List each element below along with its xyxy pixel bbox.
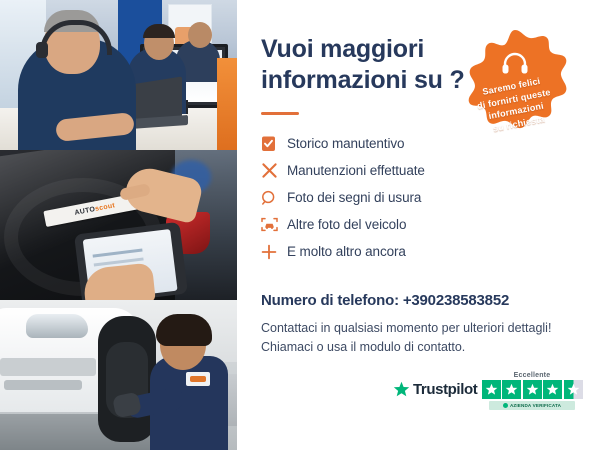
magnifier-icon — [261, 190, 287, 206]
car-grille-upper — [0, 358, 96, 376]
list-item: Altre foto del veicolo — [261, 211, 541, 238]
plus-icon — [261, 244, 287, 260]
verified-check-icon — [503, 403, 508, 408]
car-headlight — [26, 314, 88, 338]
uniform-logo-patch — [186, 372, 210, 386]
list-item-label: Storico manutentivo — [287, 136, 404, 151]
trustpilot-star-icon — [393, 381, 410, 398]
star-filled — [523, 380, 542, 399]
car-frame-icon — [261, 217, 287, 232]
trustpilot-logo: Trustpilot — [393, 381, 477, 398]
feature-list: Storico manutentivo Manutenzioni effettu… — [261, 130, 541, 265]
contact-line-2: Chiamaci o usa il modulo di contatto. — [261, 338, 561, 357]
star-filled — [543, 380, 562, 399]
star-filled — [502, 380, 521, 399]
photo-wheel-inspection — [0, 300, 237, 450]
star-filled — [482, 380, 501, 399]
photo-column: AUTOscout — [0, 0, 237, 450]
list-item-label: Manutenzioni effettuate — [287, 163, 425, 178]
list-item: Manutenzioni effettuate — [261, 157, 541, 184]
list-item: Storico manutentivo — [261, 130, 541, 157]
tools-cross-icon — [261, 162, 287, 179]
trustpilot-rating[interactable]: Trustpilot Eccellente — [393, 372, 585, 412]
list-item-label: Altre foto del veicolo — [287, 217, 406, 232]
orange-equipment-edge — [217, 58, 237, 150]
title-underline — [261, 112, 299, 115]
photo-call-center — [0, 0, 237, 150]
list-item: Foto dei segni di usura — [261, 184, 541, 211]
agent-headset-earpiece — [36, 42, 48, 58]
background-head-3 — [188, 22, 212, 48]
rating-label: Eccellente — [479, 372, 585, 379]
star-partial — [564, 380, 583, 399]
list-item-label: E molto altro ancora — [287, 244, 406, 259]
headset-icon — [501, 52, 529, 76]
list-item-label: Foto dei segni di usura — [287, 190, 421, 205]
phone-number[interactable]: Numero di telefono: +390238583852 — [261, 292, 509, 309]
car-front-tire — [98, 316, 156, 442]
advertisement-banner: AUTOscout Vuoi maggiori infor — [0, 0, 600, 450]
verified-business-badge: AZIENDA VERIFICATA — [489, 401, 575, 410]
content-panel: Vuoi maggiori informazioni su ? Saremo f… — [237, 0, 600, 450]
car-grille-lower — [4, 380, 82, 390]
trustpilot-score-block: Eccellente — [479, 372, 585, 410]
contact-text: Contattaci in qualsiasi momento per ulte… — [261, 319, 561, 357]
list-item: E molto altro ancora — [261, 238, 541, 265]
mechanic-hair — [156, 314, 212, 346]
contact-line-1: Contattaci in qualsiasi momento per ulte… — [261, 319, 561, 338]
clipboard-check-icon — [261, 135, 287, 152]
trustpilot-wordmark: Trustpilot — [413, 381, 477, 398]
verified-label: AZIENDA VERIFICATA — [510, 403, 561, 408]
photo-sticker-application: AUTOscout — [0, 150, 237, 300]
star-rating — [479, 380, 585, 399]
